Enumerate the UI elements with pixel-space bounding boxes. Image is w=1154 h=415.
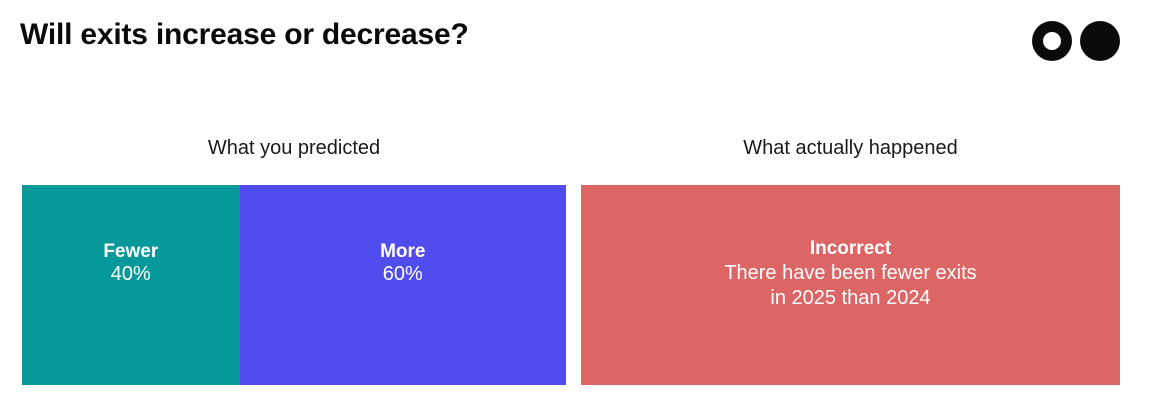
result-banner[interactable]: Incorrect There have been fewer exits in… (581, 185, 1120, 385)
comparison-panels: What you predicted Fewer 40% More 60% Wh… (0, 0, 1154, 415)
panel-actual-label: What actually happened (581, 137, 1120, 160)
bar-segment-more-text: More 60% (380, 241, 425, 287)
panel-predicted-label: What you predicted (22, 137, 566, 160)
bar-segment-more-value: 60% (380, 263, 425, 287)
bar-segment-fewer[interactable]: Fewer 40% (22, 185, 240, 385)
predicted-stacked-bar: Fewer 40% More 60% (22, 185, 566, 385)
result-detail: There have been fewer exits in 2025 than… (724, 261, 976, 311)
result-banner-text: Incorrect There have been fewer exits in… (724, 237, 976, 311)
bar-segment-more[interactable]: More 60% (240, 185, 566, 385)
bar-segment-more-name: More (380, 241, 425, 263)
result-verdict: Incorrect (724, 237, 976, 261)
bar-segment-fewer-text: Fewer 40% (103, 241, 158, 287)
bar-segment-fewer-value: 40% (103, 263, 158, 287)
bar-segment-fewer-name: Fewer (103, 241, 158, 263)
